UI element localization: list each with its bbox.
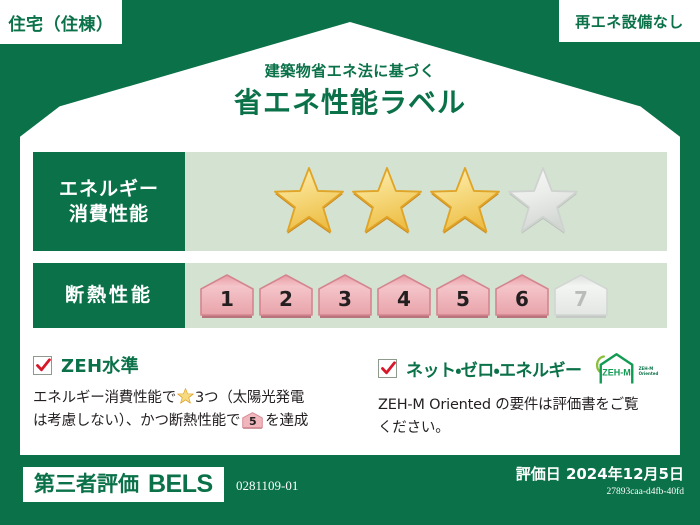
evaluation-date: 評価日 2024年12月5日 xyxy=(516,465,684,484)
bels-en-label: BELS xyxy=(148,472,213,497)
criteria-zehm-title: ネット・ゼロ・エネルギー xyxy=(406,356,582,381)
house-badge-icon: 6 xyxy=(494,274,550,318)
star-icon xyxy=(350,166,424,238)
criteria-zehm-header: ネット・ゼロ・エネルギー ZEH-M ZEH-M Oriented xyxy=(378,352,667,385)
evaluation-date-value: 2024年12月5日 xyxy=(566,465,684,483)
criteria-zeh-title: ZEH水準 xyxy=(61,352,139,378)
title-block: 建築物省エネ法に基づく 省エネ性能ラベル xyxy=(0,62,700,119)
criteria-section: ZEH水準 エネルギー消費性能で3つ（太陽光発電は考慮しない）、かつ断熱性能で5… xyxy=(33,352,667,441)
criteria-zehm-body-line2: ください。 xyxy=(378,420,450,436)
criteria-zeh-body-part4: を達成 xyxy=(265,413,308,429)
criteria-zeh-body-part3: は考慮しない）、かつ断熱性能で xyxy=(33,413,240,429)
insulation-grade-value: 6 xyxy=(515,289,529,318)
page-title: 省エネ性能ラベル xyxy=(0,87,700,119)
insulation-grade-badges: 1 2 3 4 xyxy=(185,263,667,328)
page-subtitle: 建築物省エネ法に基づく xyxy=(0,62,700,80)
bels-jp-label: 第三者評価 xyxy=(34,474,139,495)
checkbox-zeh[interactable] xyxy=(33,356,52,375)
house-badge-icon: 2 xyxy=(258,274,314,318)
house-badge-icon: 1 xyxy=(199,274,255,318)
criteria-zeh-column: ZEH水準 エネルギー消費性能で3つ（太陽光発電は考慮しない）、かつ断熱性能で5… xyxy=(33,352,350,441)
building-type-tag-label: 住宅（住棟） xyxy=(9,10,114,35)
house-badge-icon-empty: 7 xyxy=(553,274,609,318)
renewable-equipment-tag-label: 再エネ設備なし xyxy=(575,11,684,32)
criteria-zeh-header: ZEH水準 xyxy=(33,352,350,378)
house-badge-icon: 4 xyxy=(376,274,432,318)
svg-text:ZEH-M: ZEH-M xyxy=(602,367,631,377)
criteria-zehm-column: ネット・ゼロ・エネルギー ZEH-M ZEH-M Oriented ZEH-M … xyxy=(350,352,667,441)
criteria-zeh-body: エネルギー消費性能で3つ（太陽光発電は考慮しない）、かつ断熱性能で5を達成 xyxy=(33,387,350,434)
check-icon xyxy=(380,360,397,377)
energy-performance-label-line2: 消費性能 xyxy=(69,202,149,227)
energy-performance-label-card: 住宅（住棟） 再エネ設備なし 建築物省エネ法に基づく 省エネ性能ラベル エネルギ… xyxy=(0,0,700,525)
star-icon-empty xyxy=(506,166,580,238)
zehm-logo-caption: ZEH-M Oriented xyxy=(639,352,659,376)
star-icon xyxy=(272,166,346,238)
renewable-equipment-tag: 再エネ設備なし xyxy=(559,0,700,42)
insulation-grade-value: 5 xyxy=(456,289,470,318)
criteria-zeh-badge-value: 5 xyxy=(242,412,263,429)
star-icon-inline xyxy=(177,388,194,405)
check-icon xyxy=(35,357,52,374)
energy-performance-stars xyxy=(185,152,667,251)
house-badge-icon-inline: 5 xyxy=(242,412,263,429)
insulation-grade-value: 4 xyxy=(397,289,411,318)
energy-performance-row: エネルギー 消費性能 xyxy=(33,152,667,251)
building-type-tag: 住宅（住棟） xyxy=(0,0,122,44)
insulation-grade-value: 2 xyxy=(279,289,293,318)
insulation-performance-label-text: 断熱性能 xyxy=(65,283,153,308)
criteria-zehm-body: ZEH-M Oriented の要件は評価書をご覧 ください。 xyxy=(378,394,667,441)
bels-certificate-number: 0281109-01 xyxy=(236,478,298,494)
insulation-performance-label: 断熱性能 xyxy=(33,263,185,328)
house-badge-icon: 5 xyxy=(435,274,491,318)
energy-performance-label-line1: エネルギー xyxy=(59,177,159,202)
criteria-zehm-body-line1: ZEH-M Oriented の要件は評価書をご覧 xyxy=(378,397,638,413)
insulation-performance-row: 断熱性能 1 xyxy=(33,263,667,328)
criteria-zeh-body-part2: 3つ（太陽光発電 xyxy=(195,390,304,406)
checkbox-zehm[interactable] xyxy=(378,359,397,378)
criteria-zeh-body-part1: エネルギー消費性能で xyxy=(33,390,176,406)
insulation-grade-value: 3 xyxy=(338,289,352,318)
insulation-grade-value: 1 xyxy=(220,289,234,318)
evaluation-info: 評価日 2024年12月5日 27893caa-d4fb-40fd xyxy=(516,465,684,497)
zehm-house-logo-icon: ZEH-M ZEH-M Oriented xyxy=(593,352,659,385)
evaluation-date-label: 評価日 xyxy=(516,465,561,483)
insulation-grade-value: 7 xyxy=(574,289,588,318)
energy-performance-label: エネルギー 消費性能 xyxy=(33,152,185,251)
evaluation-id: 27893caa-d4fb-40fd xyxy=(516,487,684,497)
zehm-logo-caption-line2: Oriented xyxy=(639,371,659,376)
house-badge-icon: 3 xyxy=(317,274,373,318)
footer: 第三者評価 BELS 0281109-01 評価日 2024年12月5日 278… xyxy=(0,455,700,525)
star-icon xyxy=(428,166,502,238)
bels-certification-chip: 第三者評価 BELS xyxy=(23,467,224,502)
